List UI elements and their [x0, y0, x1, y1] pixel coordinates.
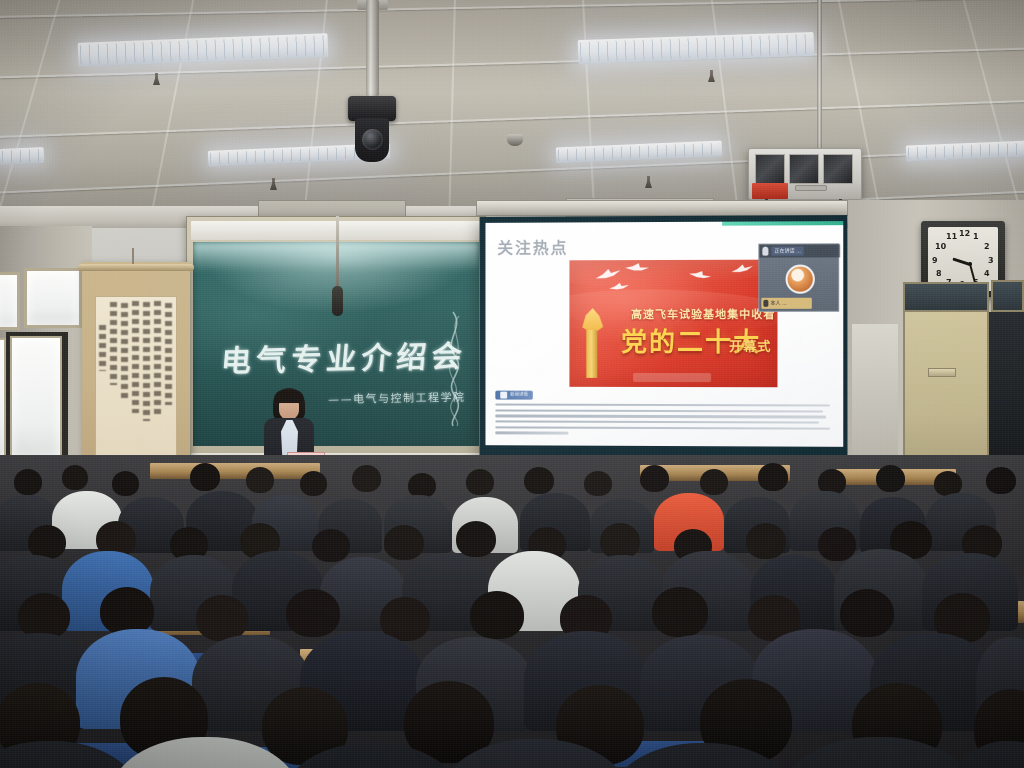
- door-handle[interactable]: [928, 368, 956, 377]
- transom-window-right: [991, 280, 1024, 312]
- student-head: [986, 467, 1016, 494]
- slide-title: 关注热点: [497, 234, 568, 258]
- microphone-icon: [763, 300, 768, 307]
- student-head: [28, 525, 66, 559]
- torch-emblem-icon: [579, 308, 605, 378]
- avatar: [786, 265, 815, 294]
- camera-lens-icon: [362, 129, 383, 150]
- scroll-hanger: [132, 248, 134, 264]
- screen-roller-case: [476, 200, 848, 216]
- camera-pole: [366, 0, 379, 96]
- student: [948, 741, 1024, 768]
- clock-number: 4: [984, 269, 990, 278]
- fluorescent-panel-light: [78, 33, 329, 67]
- student-head: [600, 523, 640, 559]
- chalk-flourish-icon: [439, 310, 469, 428]
- window-upper-left: [0, 272, 20, 330]
- clock-number: 12: [959, 229, 970, 238]
- lecture-hall-photo: 电气专业介绍会 ——电气与控制工程学院: [0, 0, 1024, 768]
- student-head: [456, 521, 496, 557]
- clock-number: 9: [932, 256, 938, 265]
- student-head: [466, 469, 494, 495]
- window-lower-left: [10, 336, 62, 462]
- student-head: [18, 593, 70, 639]
- projector-mount-rod: [817, 0, 822, 152]
- self-label: 本人 ...: [770, 300, 787, 307]
- student-head: [640, 465, 669, 492]
- student-head: [100, 587, 154, 635]
- clock-number: 10: [935, 242, 946, 251]
- student-head: [14, 469, 42, 495]
- projection-screen: 关注热点 高速飞车试验基地集中收看 党的二十大 开幕式: [480, 215, 848, 461]
- whiteboard-right: [852, 324, 898, 464]
- student-head: [700, 469, 728, 495]
- student-head: [300, 471, 327, 496]
- microphone-icon: [762, 247, 768, 256]
- slide: 关注热点 高速飞车试验基地集中收看 党的二十大 开幕式: [485, 221, 843, 447]
- slide-body-tag-label: 新闻详情: [510, 392, 528, 398]
- slide-body-text: 新闻详情: [495, 386, 833, 439]
- student-head: [746, 523, 786, 559]
- slide-body-tag: 新闻详情: [495, 390, 532, 399]
- student-head: [62, 465, 88, 490]
- presenter-fringe: [274, 390, 304, 403]
- student-head: [818, 527, 856, 561]
- student-head: [312, 529, 350, 562]
- clock-number: 1: [973, 232, 979, 241]
- scroll-paper: [95, 296, 177, 458]
- student-head: [840, 589, 894, 637]
- banner-footer-strip: [633, 373, 711, 382]
- clock-number: 2: [984, 242, 990, 251]
- window-far-left: [0, 338, 6, 462]
- blackboard-title: 电气专业介绍会: [201, 331, 479, 381]
- student-head: [286, 589, 340, 637]
- banner-line-3: 开幕式: [729, 336, 771, 355]
- clock-center-pin: [968, 262, 972, 266]
- hanging-cord-weight: [332, 286, 343, 316]
- door-transom-window: [903, 282, 989, 312]
- banner-photo: 高速飞车试验基地集中收看 党的二十大 开幕式: [569, 260, 777, 388]
- student: [780, 737, 976, 768]
- projector-lens-slot: [795, 185, 827, 191]
- video-call-participant-tile[interactable]: 正在讲话 ... 本人 ...: [758, 243, 839, 312]
- clock-number: 3: [988, 256, 994, 265]
- dome-sensor-icon: [507, 134, 523, 146]
- video-call-self-tile[interactable]: 本人 ...: [761, 298, 811, 309]
- student-head: [470, 591, 524, 639]
- banner-line-1: 高速飞车试验基地集中收看: [631, 306, 769, 322]
- fluorescent-panel-light: [578, 32, 815, 64]
- student-head: [758, 463, 788, 491]
- student-head: [352, 465, 381, 492]
- student-head: [246, 467, 274, 493]
- student-head: [524, 467, 554, 494]
- student-head: [196, 595, 248, 641]
- sprinkler-head: [645, 176, 652, 188]
- blackboard-assembly: 电气专业介绍会 ——电气与控制工程学院: [186, 216, 486, 468]
- desk-row: [150, 463, 320, 479]
- sprinkler-head: [708, 70, 715, 82]
- ceiling: [0, 0, 1024, 232]
- clock-number: 11: [946, 232, 957, 241]
- dark-wall-panel: [989, 312, 1024, 472]
- document-icon: [500, 392, 507, 399]
- fluorescent-panel-light: [0, 147, 44, 165]
- student-head: [112, 471, 139, 496]
- student-head: [190, 463, 220, 491]
- participant-name: 正在讲话 ...: [771, 246, 804, 255]
- video-call-top-bar: 正在讲话 ...: [759, 244, 840, 257]
- student-head: [584, 471, 612, 496]
- audience-seating: [0, 455, 1024, 768]
- fluorescent-panel-light: [556, 141, 723, 164]
- student-head: [876, 465, 905, 492]
- window-upper-left-2: [24, 268, 82, 328]
- student-head: [384, 525, 424, 560]
- student-head: [652, 587, 708, 637]
- slide-accent-bar: [722, 221, 843, 226]
- hanging-cord: [336, 216, 339, 288]
- sprinkler-head: [153, 73, 160, 85]
- scroll-rod-top: [78, 264, 194, 271]
- projector-indicator: [752, 183, 788, 199]
- clock-number: 8: [936, 269, 942, 278]
